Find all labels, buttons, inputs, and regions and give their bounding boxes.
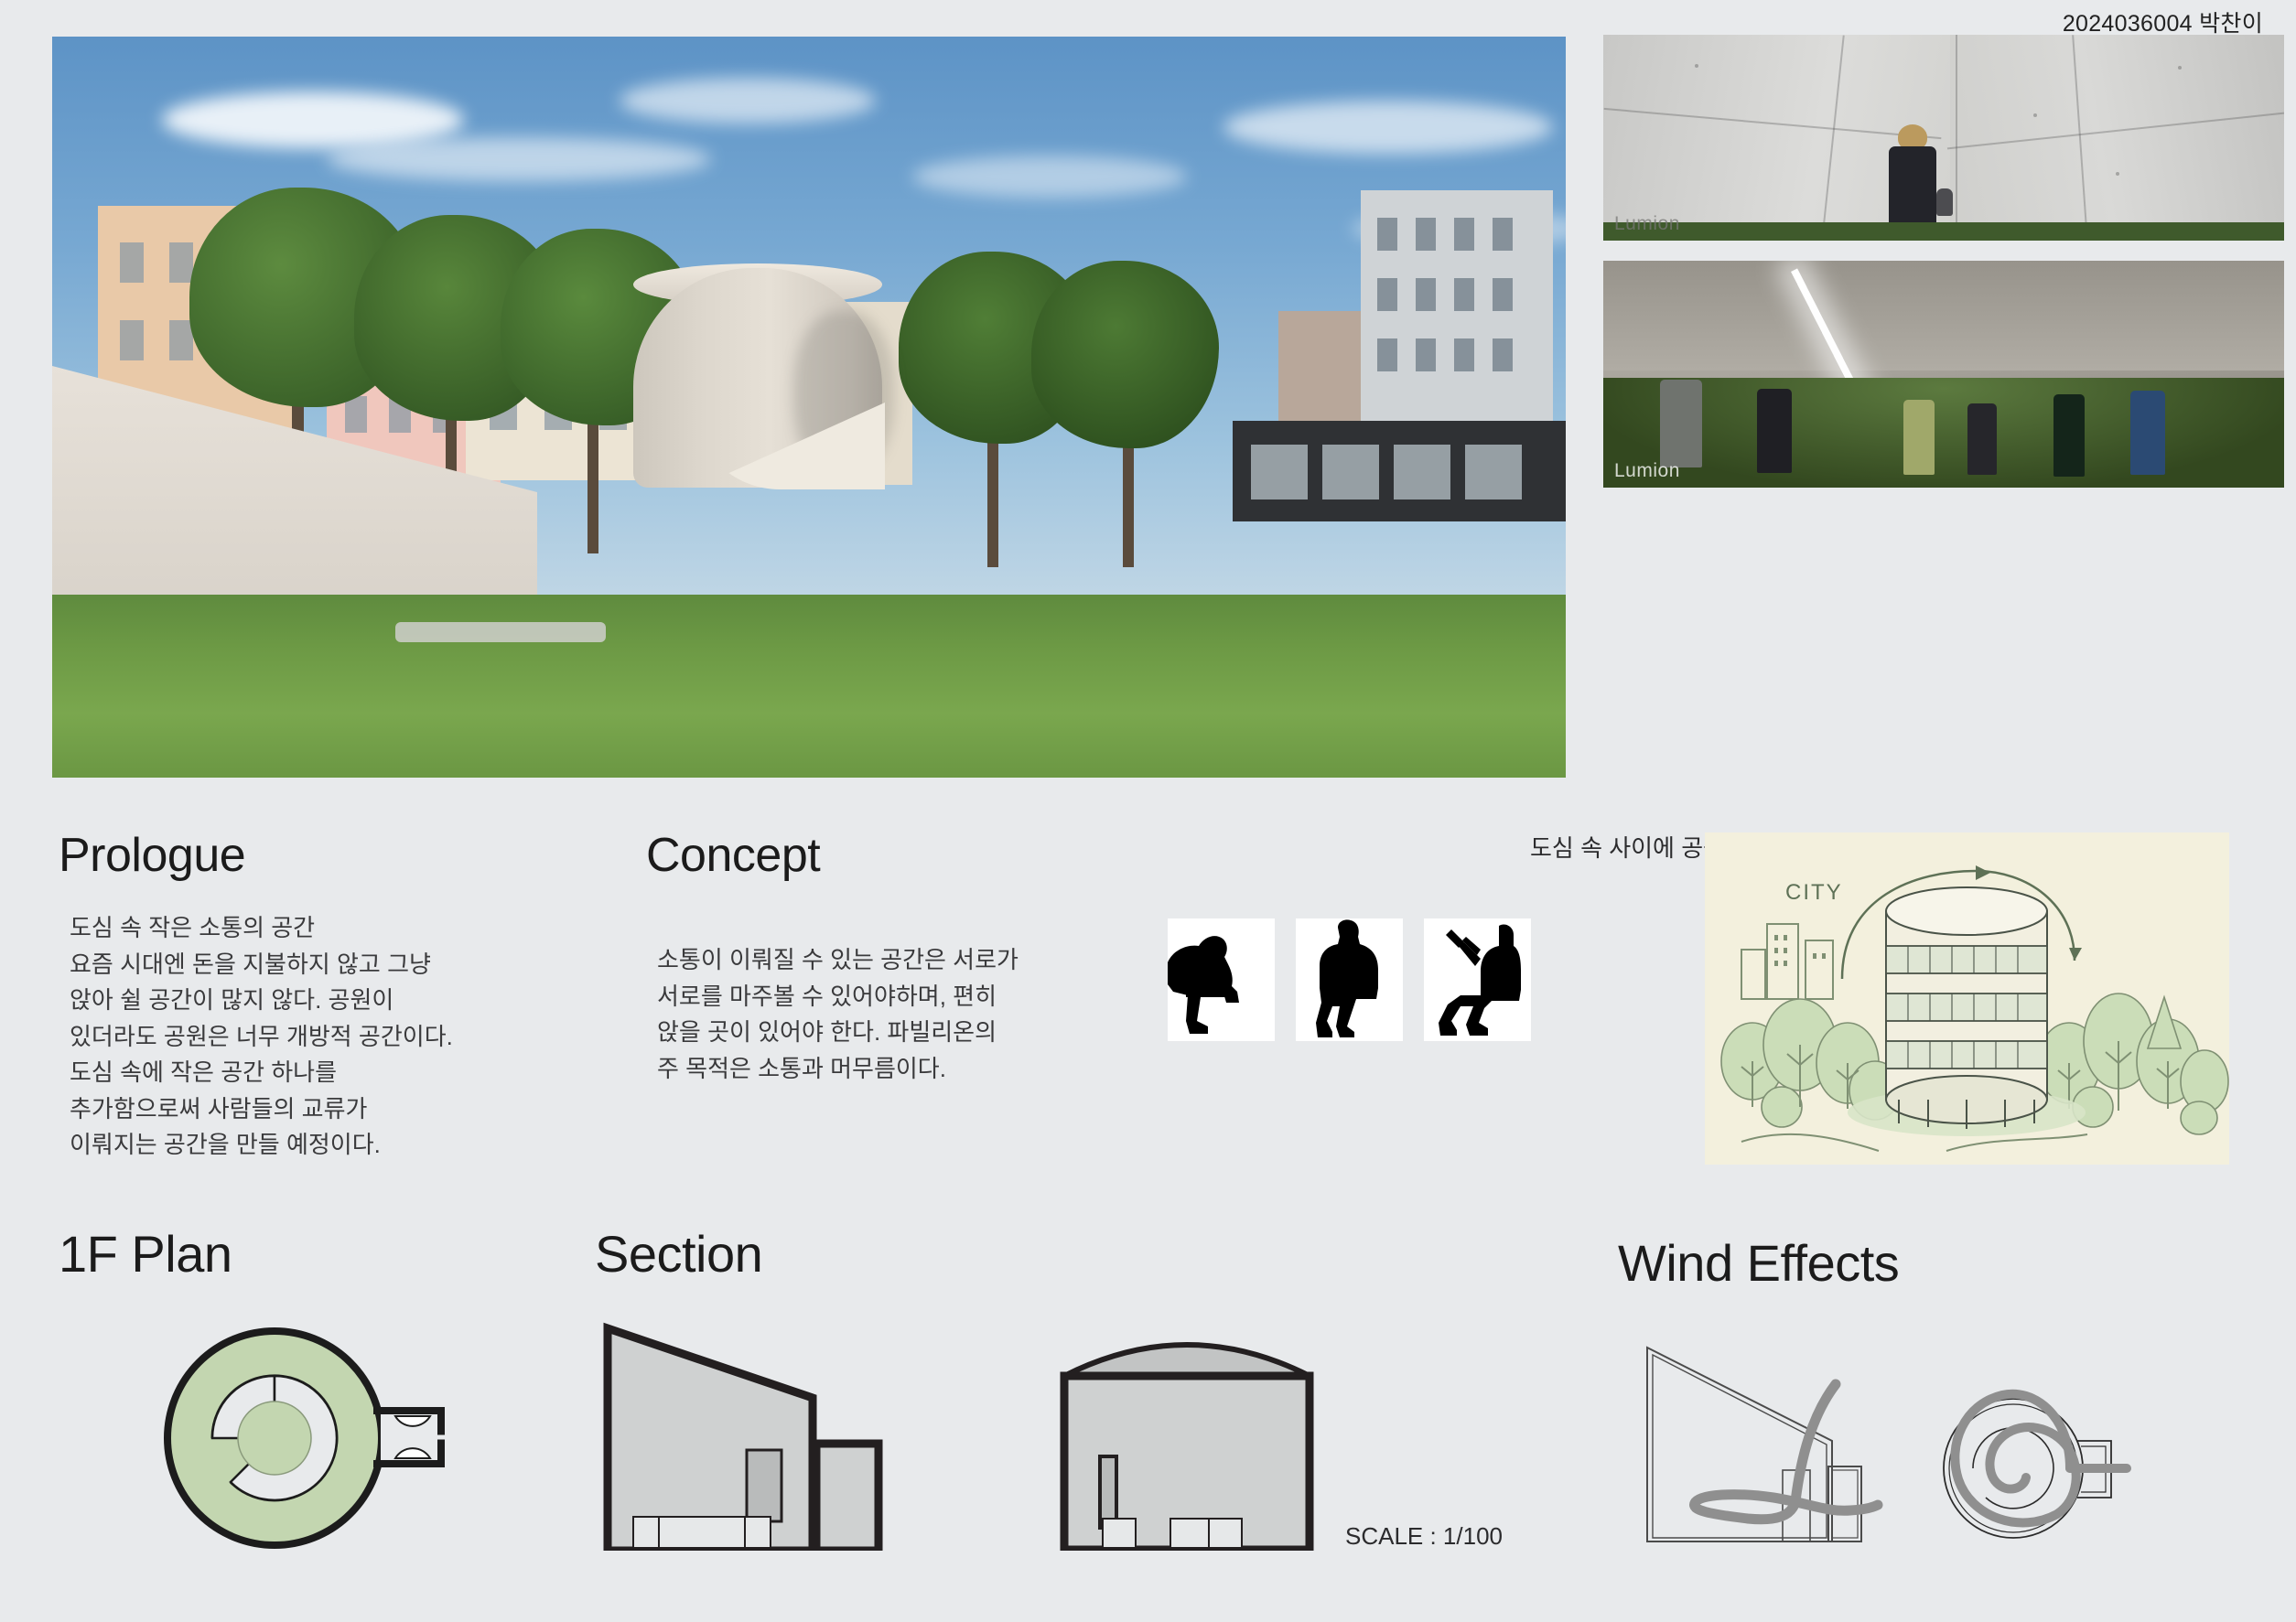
cloud bbox=[620, 78, 876, 124]
wind-diagram-section bbox=[1638, 1331, 1894, 1560]
silhouette-person-front bbox=[1296, 918, 1403, 1041]
interior-ceiling bbox=[1603, 261, 2284, 371]
storefront-building bbox=[1233, 421, 1566, 521]
concept-body: 소통이 이뤄질 수 있는 공간은 서로가 서로를 마주볼 수 있어야하며, 편히… bbox=[657, 942, 1087, 1087]
seated-figure bbox=[2130, 391, 2165, 475]
interior-gathering-render: Lumion bbox=[1603, 261, 2284, 488]
seated-silhouette-group bbox=[1168, 918, 1531, 1041]
cloud bbox=[912, 156, 1187, 198]
cloud bbox=[1223, 101, 1553, 154]
seated-figure bbox=[2053, 394, 2085, 477]
plan-heading: 1F Plan bbox=[59, 1224, 232, 1284]
diagram-city-label: CITY bbox=[1785, 880, 1843, 906]
seated-figure bbox=[1660, 380, 1702, 467]
diagram-illustration bbox=[1705, 832, 2229, 1165]
seated-figure bbox=[1967, 403, 1997, 475]
section-heading: Section bbox=[595, 1224, 762, 1284]
figure-bag bbox=[1936, 188, 1953, 216]
student-id-label: 2024036004 박찬이 bbox=[2063, 5, 2263, 38]
concept-heading: Concept bbox=[646, 828, 820, 883]
prologue-heading: Prologue bbox=[59, 828, 245, 883]
silhouette-person-leaning bbox=[1168, 918, 1275, 1041]
interior-grass-floor bbox=[1603, 378, 2284, 488]
seated-figure bbox=[1757, 389, 1792, 473]
scale-label: SCALE : 1/100 bbox=[1345, 1522, 1503, 1551]
figure-walking bbox=[1889, 146, 1936, 229]
cloud bbox=[327, 137, 711, 181]
city-park-pavilion-diagram: CITY bbox=[1705, 832, 2229, 1165]
paving-path bbox=[395, 622, 606, 642]
lumion-watermark: Lumion bbox=[1614, 460, 1680, 482]
wind-diagram-plan bbox=[1924, 1331, 2198, 1560]
section-drawing-b bbox=[1057, 1308, 1318, 1555]
lawn bbox=[52, 595, 1566, 778]
plan-drawing bbox=[137, 1301, 503, 1580]
silhouette-person-gesturing bbox=[1424, 918, 1531, 1041]
prologue-body: 도심 속 작은 소통의 공간 요즘 시대엔 돈을 지불하지 않고 그냥 앉아 쉴… bbox=[70, 910, 582, 1164]
section-drawing-a bbox=[595, 1308, 888, 1555]
seated-figure bbox=[1903, 400, 1935, 475]
tree bbox=[1031, 261, 1219, 448]
concrete-wall-right bbox=[1950, 35, 2284, 241]
wind-effects-heading: Wind Effects bbox=[1618, 1233, 1899, 1293]
lumion-watermark: Lumion bbox=[1614, 213, 1680, 235]
interior-corridor-render: Lumion bbox=[1603, 35, 2284, 241]
hero-exterior-render bbox=[52, 37, 1566, 778]
